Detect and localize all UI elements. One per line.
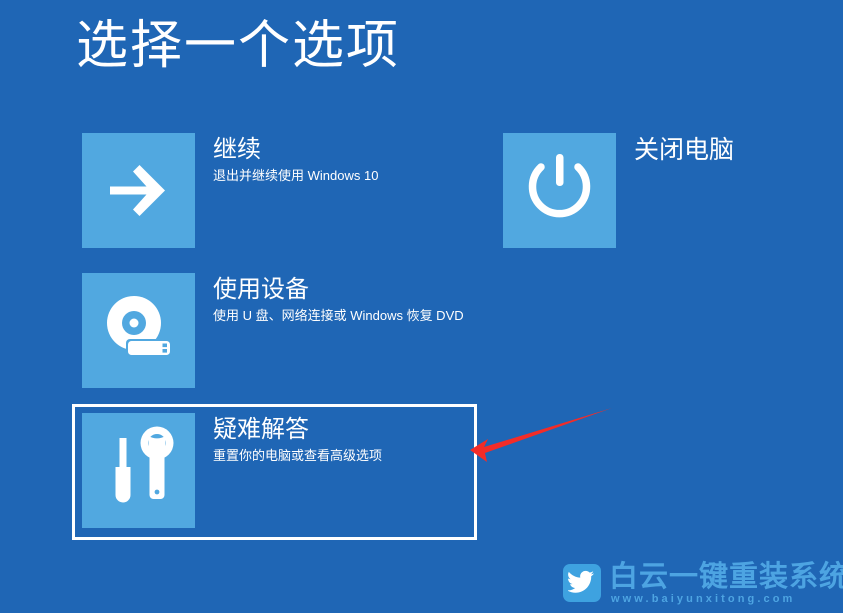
recovery-options-screen: 选择一个选项 继续 退出并继续使用 Windows 10 使 [0,0,843,613]
option-use-device-subtitle: 使用 U 盘、网络连接或 Windows 恢复 DVD [213,307,464,326]
watermark-url: www.baiyunxitong.com [611,593,795,605]
option-continue[interactable]: 继续 退出并继续使用 Windows 10 [82,133,378,248]
option-use-device-title: 使用设备 [213,275,464,304]
annotation-arrow-icon [440,398,615,478]
option-shutdown[interactable]: 关闭电脑 [503,133,734,248]
screwdriver-wrench-icon [82,413,195,528]
option-troubleshoot-text: 疑难解答 重置你的电脑或查看高级选项 [213,413,382,466]
page-title: 选择一个选项 [76,14,400,79]
option-troubleshoot[interactable]: 疑难解答 重置你的电脑或查看高级选项 [82,413,382,528]
option-use-device[interactable]: 使用设备 使用 U 盘、网络连接或 Windows 恢复 DVD [82,273,464,388]
disc-usb-icon [82,273,195,388]
option-shutdown-text: 关闭电脑 [634,133,734,166]
option-shutdown-tile[interactable] [503,133,616,248]
bird-icon [563,564,601,602]
power-icon [503,133,616,248]
option-troubleshoot-title: 疑难解答 [213,415,382,444]
option-troubleshoot-tile[interactable] [82,413,195,528]
option-continue-tile[interactable] [82,133,195,248]
option-continue-subtitle: 退出并继续使用 Windows 10 [213,167,378,186]
watermark-name: 白云一键重装系统 [609,562,843,594]
option-continue-title: 继续 [213,135,378,164]
option-use-device-text: 使用设备 使用 U 盘、网络连接或 Windows 恢复 DVD [213,273,464,326]
watermark: 白云一键重装系统 www.baiyunxitong.com [563,560,825,608]
option-use-device-tile[interactable] [82,273,195,388]
arrow-right-icon [82,133,195,248]
option-continue-text: 继续 退出并继续使用 Windows 10 [213,133,378,186]
option-troubleshoot-subtitle: 重置你的电脑或查看高级选项 [213,447,382,466]
option-shutdown-title: 关闭电脑 [634,135,734,166]
